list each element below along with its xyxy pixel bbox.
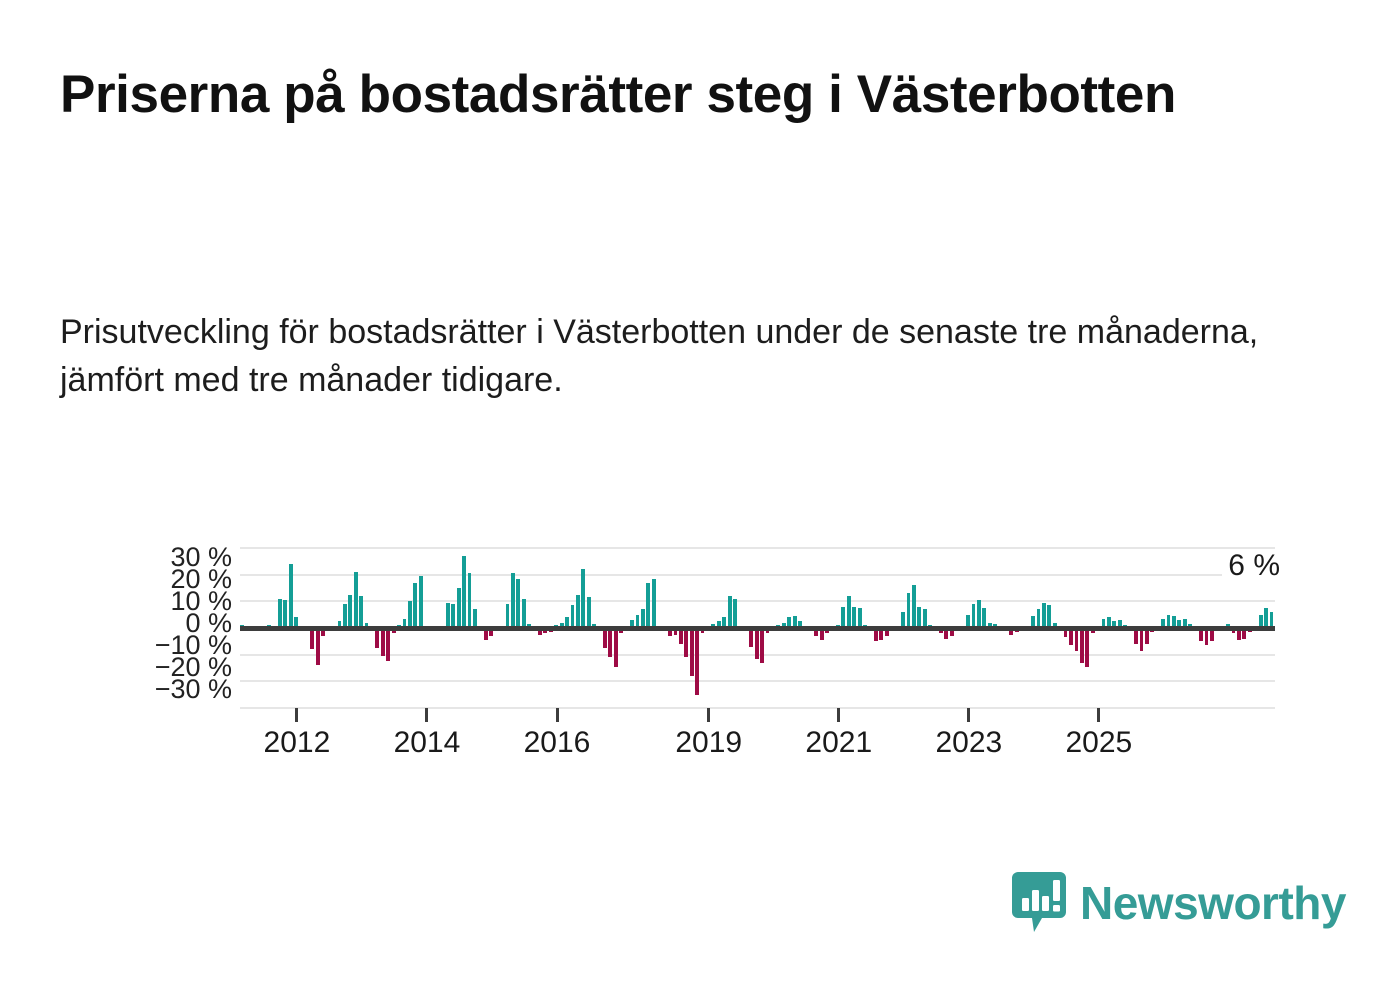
zero-line (240, 626, 1275, 631)
bar (310, 628, 314, 649)
bar (912, 585, 916, 628)
x-tick-label: 2016 (524, 726, 591, 760)
bar (690, 628, 694, 676)
bar (755, 628, 759, 659)
bar (576, 595, 580, 628)
bar (381, 628, 385, 656)
y-tick-label: −30 % (155, 676, 232, 703)
bar (408, 601, 412, 628)
bar (1205, 628, 1209, 645)
page-subtitle: Prisutveckling för bostadsrätter i Väste… (60, 308, 1290, 405)
bar (451, 604, 455, 628)
bar (652, 579, 656, 628)
bar (1069, 628, 1073, 645)
infographic-page: Priserna på bostadsrätter steg i Västerb… (0, 0, 1382, 999)
bar (283, 600, 287, 628)
bar (516, 579, 520, 628)
bar (1075, 628, 1079, 651)
bar (728, 596, 732, 628)
bar (343, 604, 347, 628)
value-annotation: 6 % (1222, 549, 1286, 583)
bar (608, 628, 612, 657)
bar (468, 573, 472, 628)
bar (446, 603, 450, 628)
x-tick-label: 2021 (805, 726, 872, 760)
logo-wordmark: Newsworthy (1080, 880, 1346, 926)
x-tick-label: 2014 (394, 726, 461, 760)
bar (749, 628, 753, 647)
bar (462, 556, 466, 628)
bar (1085, 628, 1089, 667)
bar (413, 583, 417, 628)
bar (614, 628, 618, 667)
bar (316, 628, 320, 665)
x-axis: 2012201420162019202120232025 (240, 708, 1275, 766)
y-axis-labels: 30 %20 %10 %0 %−10 %−20 %−30 % (60, 536, 232, 716)
plot-area (240, 548, 1275, 708)
bar (972, 604, 976, 628)
bar (359, 596, 363, 628)
bar (457, 588, 461, 628)
x-tick (1097, 708, 1100, 722)
x-tick (425, 708, 428, 722)
bar (348, 595, 352, 628)
bar (354, 572, 358, 628)
x-tick (556, 708, 559, 722)
bar (1080, 628, 1084, 663)
newsworthy-logo: Newsworthy (1012, 872, 1346, 934)
x-tick (837, 708, 840, 722)
bar (760, 628, 764, 663)
x-tick (967, 708, 970, 722)
bar (511, 573, 515, 628)
x-tick-label: 2023 (935, 726, 1002, 760)
page-title: Priserna på bostadsrätter steg i Västerb… (60, 64, 1240, 127)
bar (419, 576, 423, 628)
bar (847, 596, 851, 628)
bar (977, 600, 981, 628)
x-tick-label: 2019 (675, 726, 742, 760)
x-tick-label: 2025 (1066, 726, 1133, 760)
x-tick-label: 2012 (264, 726, 331, 760)
bar (278, 599, 282, 628)
bar (695, 628, 699, 695)
bar (603, 628, 607, 648)
bar (907, 593, 911, 628)
bar-chart: 30 %20 %10 %0 %−10 %−20 %−30 % 6 % 20122… (60, 536, 1300, 766)
bar (506, 604, 510, 628)
bar (289, 564, 293, 628)
speech-bubble-bar-chart-icon (1012, 872, 1066, 934)
bar (733, 599, 737, 628)
bar (522, 599, 526, 628)
bar (684, 628, 688, 657)
bar (386, 628, 390, 661)
bar (375, 628, 379, 648)
bar (587, 597, 591, 628)
x-tick (707, 708, 710, 722)
bar (581, 569, 585, 628)
bar (1140, 628, 1144, 651)
x-tick (295, 708, 298, 722)
bar (1042, 603, 1046, 628)
bar (646, 583, 650, 628)
